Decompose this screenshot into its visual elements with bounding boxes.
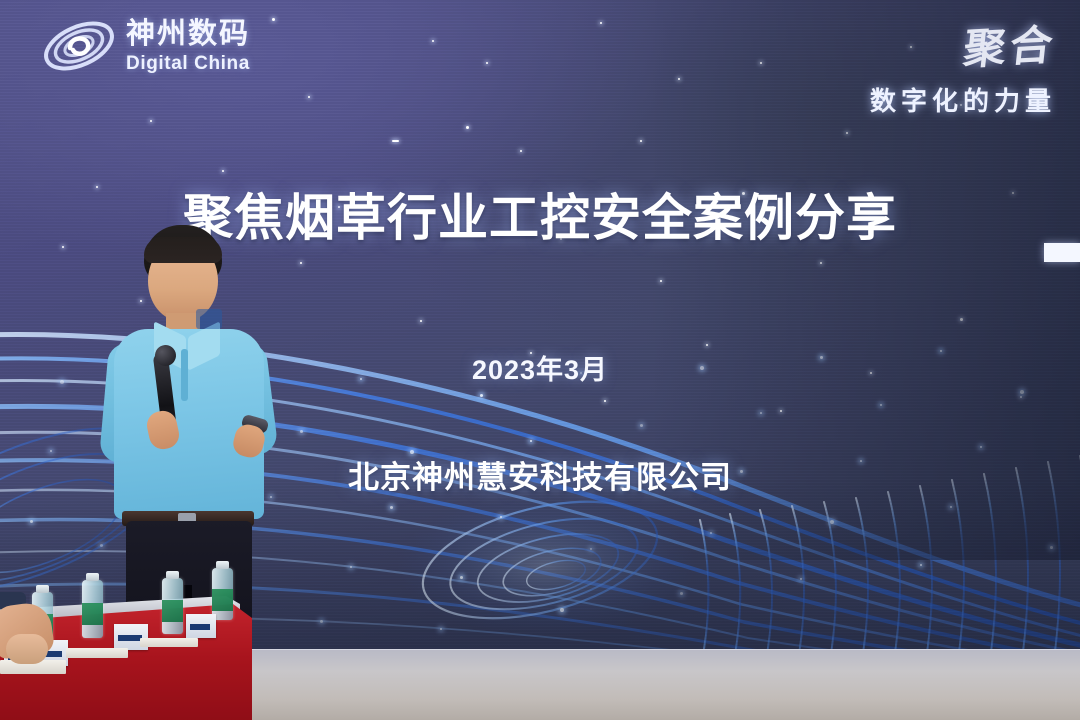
logo-english-name: Digital China	[126, 54, 250, 73]
water-bottle	[212, 568, 233, 620]
screen-edge-highlight	[1044, 243, 1080, 262]
bottle-label	[162, 600, 183, 622]
brand-tagline: 聚合 数字化的力量	[870, 16, 1056, 118]
conference-photo: 神州数码 Digital China 聚合 数字化的力量 聚焦烟草行业工控安全案…	[0, 0, 1080, 720]
spiral-logo-icon	[40, 14, 118, 78]
speaker-figure	[96, 225, 286, 645]
brand-tagline-subline: 数字化的力量	[870, 81, 1056, 118]
bottle-label	[212, 589, 233, 611]
bottle-cap	[216, 561, 229, 569]
bottle-label	[82, 603, 103, 625]
bottle-cap	[166, 571, 179, 579]
document-stack	[66, 648, 128, 658]
water-bottle	[82, 580, 103, 638]
logo-wordmark: 神州数码 Digital China	[126, 20, 250, 73]
logo-chinese-name: 神州数码	[126, 20, 250, 49]
water-bottle	[162, 578, 183, 634]
seated-person-hand	[6, 634, 48, 664]
name-card-text	[118, 635, 142, 641]
digital-china-logo: 神州数码 Digital China	[40, 14, 250, 78]
speaker-shirt-placket	[181, 349, 188, 401]
document-stack	[140, 638, 198, 647]
bottle-cap	[86, 573, 99, 581]
speaker-chest-logo	[196, 309, 222, 329]
speaker-hair-fringe	[144, 237, 222, 263]
bottle-cap	[36, 585, 49, 593]
name-card	[186, 614, 216, 638]
name-card-text	[190, 624, 210, 630]
brand-tagline-headline: 聚合	[866, 11, 1060, 82]
